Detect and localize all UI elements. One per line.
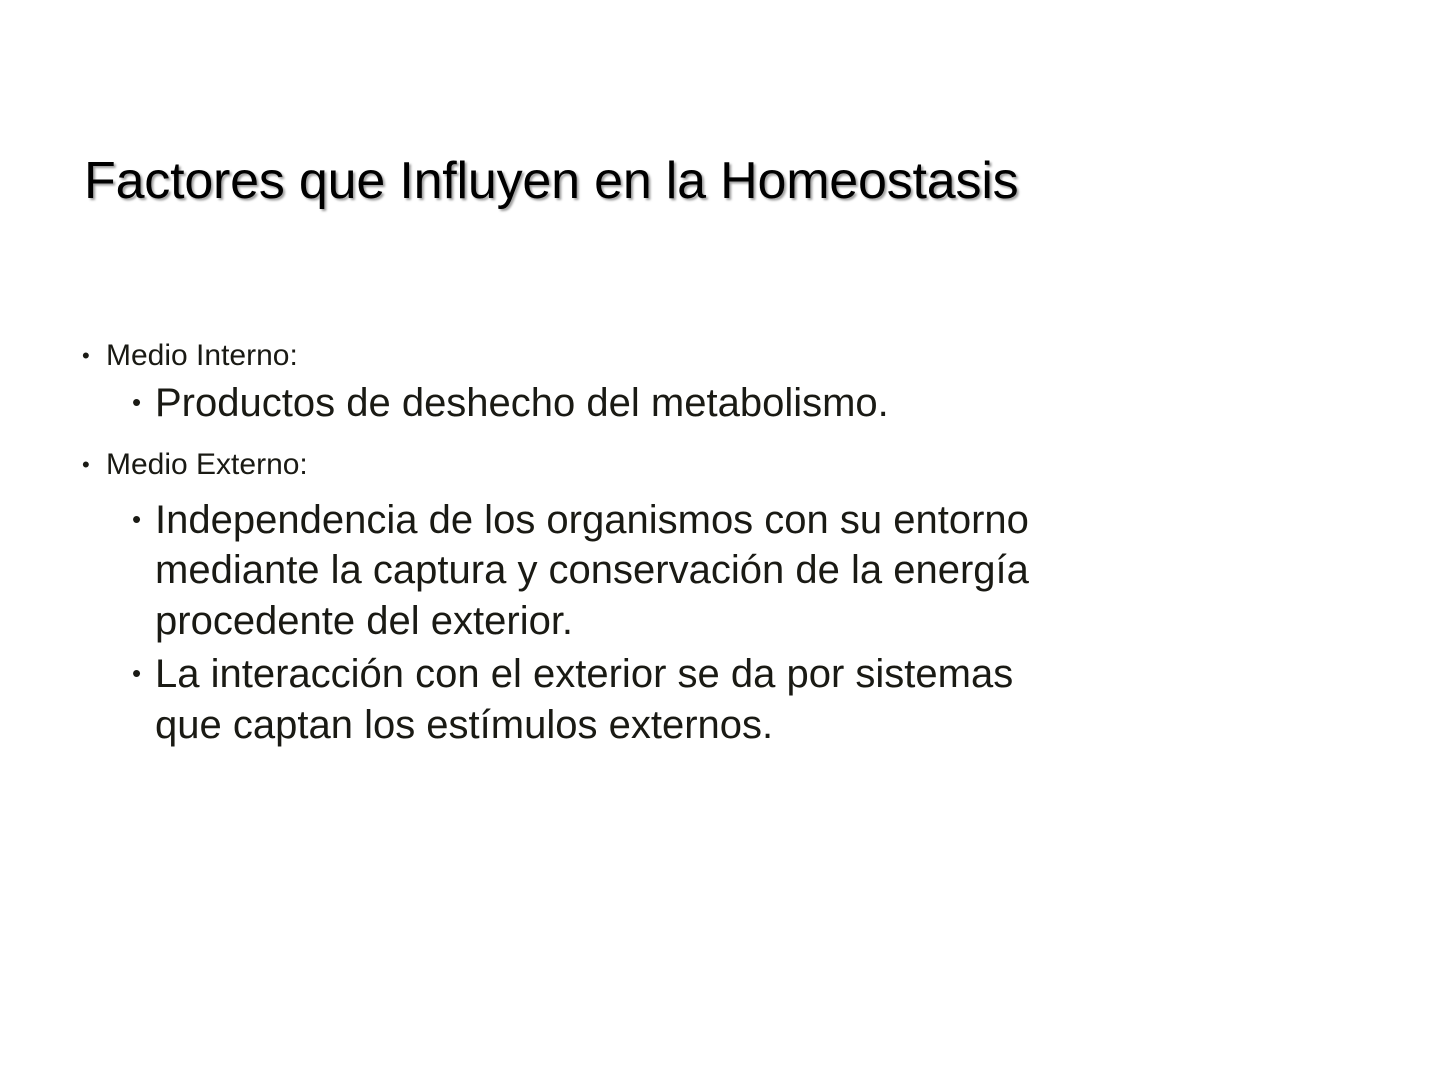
page-title: Factores que Influyen en la Homeostasis [84,152,1364,210]
list-item-label: La interacción con el exterior se da por… [155,649,1055,751]
slide-body-content: • Medio Interno: • Productos de deshecho… [72,336,1082,753]
list-item-label: Medio Externo: [106,445,1082,485]
bullet-icon: • [132,649,155,699]
list-item-label: Independencia de los organismos con su e… [155,495,1055,647]
list-item: • La interacción con el exterior se da p… [72,649,1082,751]
list-item: • Independencia de los organismos con su… [72,495,1082,647]
bullet-icon: • [82,445,106,484]
bullet-icon: • [132,495,155,545]
list-item-label: Medio Interno: [106,336,1082,376]
slide-canvas: Factores que Influyen en la Homeostasis … [0,0,1440,1080]
list-item: • Medio Externo: [72,445,1082,485]
list-item: • Productos de deshecho del metabolismo. [72,378,1082,429]
bullet-icon: • [82,336,106,375]
list-item: • Medio Interno: [72,336,1082,376]
list-item-label: Productos de deshecho del metabolismo. [155,378,1055,429]
bullet-icon: • [132,378,155,428]
